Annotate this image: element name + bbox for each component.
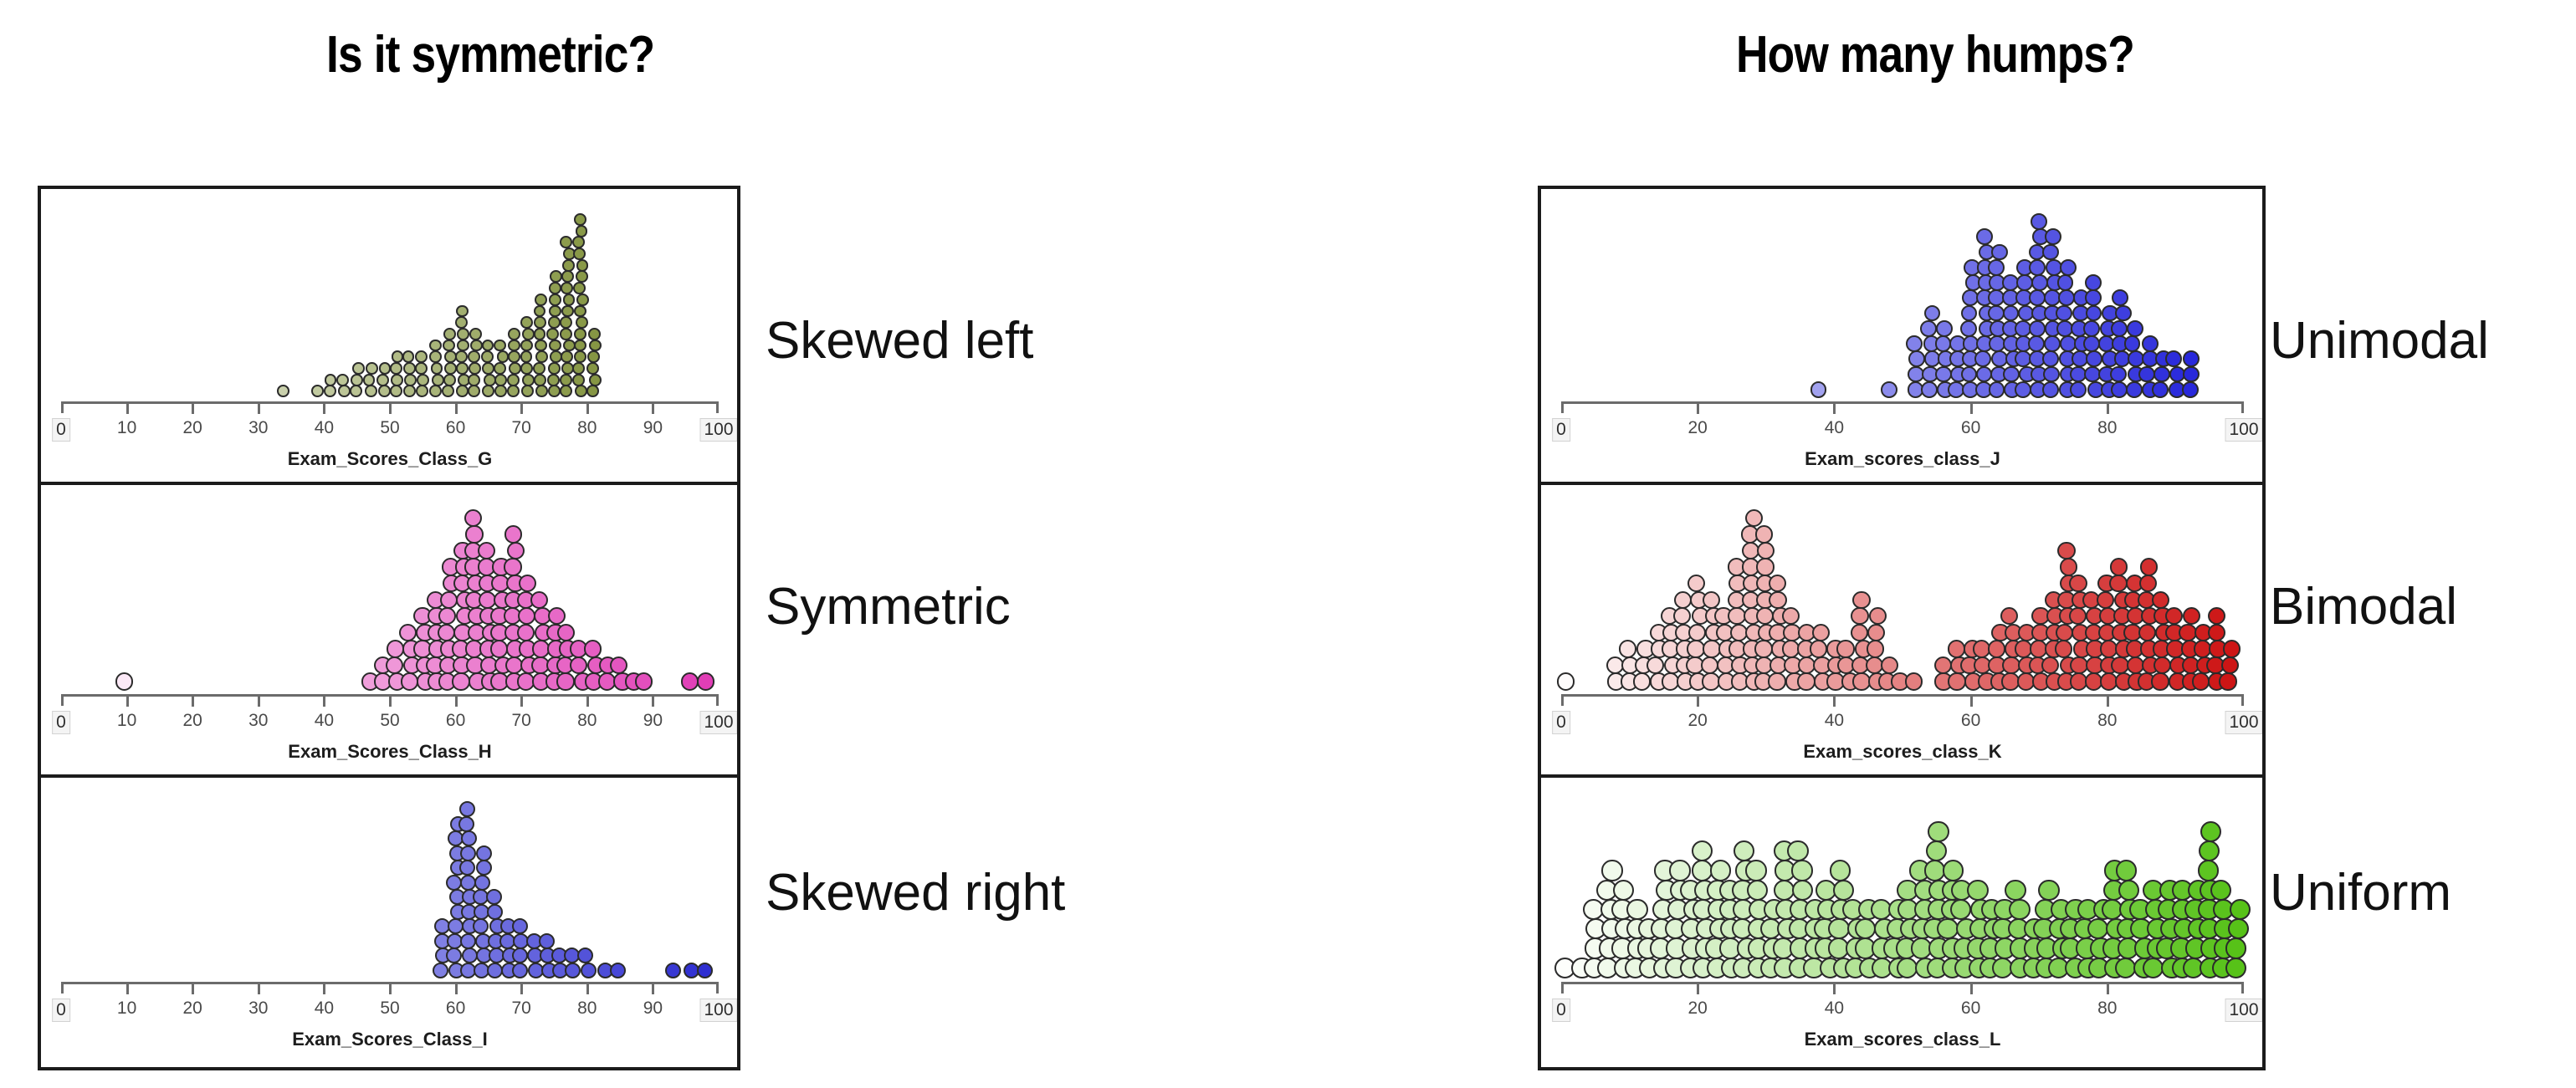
dot-marker [557,624,575,641]
dot-marker [1988,259,2005,276]
caption-skewed-left: Skewed left [766,311,1034,370]
dot-marker [2223,640,2241,657]
x-axis-tick-label: 100 [699,999,737,1022]
dotplot-panel-class-i: 0102030405060708090100Exam_Scores_Class_… [41,774,737,1062]
x-axis-title: Exam_Scores_Class_G [288,448,493,470]
x-axis-tick-label: 0 [52,999,70,1022]
dot-marker [2221,656,2239,674]
x-axis-title: Exam_scores_class_J [1805,448,2000,470]
dot-marker [508,340,520,352]
dot-marker [508,350,520,363]
x-axis-tick-label: 30 [248,999,268,1019]
dot-marker [561,305,574,318]
x-axis-tick-label: 40 [1825,999,1844,1019]
dot-marker [2210,880,2231,901]
x-axis-tick [652,403,654,414]
dot-marker [415,350,428,363]
dot-marker [1810,640,1827,657]
dot-marker [1745,860,1766,881]
dot-marker [697,672,714,690]
dot-marker [681,672,699,690]
x-axis-tick [652,696,654,707]
dot-marker [507,374,520,386]
x-axis-tick-label: 40 [315,711,334,731]
dot-marker [560,316,572,329]
dot-marker [1754,640,1772,657]
dot-marker [2000,607,2018,625]
dot-marker [2005,880,2025,901]
dot-marker [478,542,495,559]
dot-marker [1745,509,1763,527]
dot-marker [522,328,535,340]
x-axis-cap-start [61,694,64,706]
caption-symmetric: Symmetric [766,577,1011,636]
dot-marker [2056,305,2072,322]
dot-marker [1774,880,1795,901]
x-axis-tick-label: 10 [117,418,136,438]
dot-marker [697,963,713,978]
dot-marker [1769,591,1786,609]
dot-marker [549,294,561,306]
dot-marker [535,385,548,397]
x-axis-tick-label: 0 [1552,418,1570,442]
dot-marker [2153,656,2171,674]
dot-marker [2042,244,2059,261]
dot-marker [1851,607,1868,625]
dot-marker [534,328,546,340]
dot-marker [402,350,415,363]
dot-marker [2139,575,2157,592]
dot-marker [565,963,581,978]
dot-marker [1960,320,1977,337]
dot-marker [2165,607,2183,625]
x-axis-tick-label: 70 [512,418,531,438]
dot-marker [549,305,561,318]
x-axis-tick-label: 30 [248,711,268,731]
dot-marker [1881,656,1898,674]
x-axis-tick [520,403,523,414]
dot-marker [1633,672,1651,690]
dot-marker [512,918,528,934]
dot-marker [2111,320,2128,337]
dot-marker [1867,640,1884,657]
dot-marker [2028,335,2045,352]
x-axis-tick-label: 20 [183,711,202,731]
dot-marker [482,385,494,397]
dot-marker [352,362,365,375]
x-axis-tick [586,403,589,414]
dot-marker [403,385,416,397]
x-axis-tick-label: 30 [248,418,268,438]
dotplot-stack-right: 020406080100Exam_scores_class_J 02040608… [1538,186,2266,1070]
dot-marker [469,328,482,340]
x-axis-tick-label: 60 [446,711,465,731]
dot-marker [325,374,337,386]
dot-marker [1757,542,1775,559]
x-axis-tick-label: 0 [1552,999,1570,1022]
plot-area-class-i: 0102030405060708090100Exam_Scores_Class_… [41,778,737,1062]
dot-marker [2115,305,2132,322]
dot-marker [2085,289,2102,306]
dot-marker [1869,607,1887,625]
x-axis-tick [389,696,392,707]
dot-marker [442,385,454,397]
dot-marker [473,918,489,934]
dot-marker [378,385,391,397]
x-axis-cap-start [1561,401,1564,413]
x-axis-title: Exam_scores_class_L [1805,1029,2001,1050]
dot-marker [2003,366,2020,383]
dot-marker [1897,958,1918,978]
dot-marker [2111,381,2128,398]
dot-marker [2200,821,2221,842]
dot-marker [1920,320,1937,337]
plot-area-class-h: 0102030405060708090100Exam_Scores_Class_… [41,485,737,774]
x-axis-tick [455,983,458,994]
x-axis-tick-label: 80 [2097,999,2117,1019]
dot-marker [1703,591,1720,609]
dot-marker [1921,381,1938,398]
dot-marker [548,316,561,329]
x-axis-cap-start [61,401,64,413]
dot-marker [1836,640,1854,657]
dot-marker [574,350,586,363]
x-axis-title: Exam_scores_class_K [1803,741,2001,763]
dot-marker [573,282,586,294]
dot-marker [1926,840,1947,861]
dot-marker [431,362,443,375]
dot-marker [336,374,349,386]
dot-marker [1906,335,1923,352]
dot-marker [2038,880,2059,901]
dot-marker [456,385,469,397]
dot-marker [1974,350,1991,367]
dot-marker [390,385,402,397]
dot-marker [2083,320,2100,337]
x-axis-tick-label: 50 [380,999,399,1019]
dot-marker [2043,366,2060,383]
dot-marker [2219,672,2236,690]
dot-marker [572,374,585,386]
dot-marker [1976,228,1993,245]
x-axis-tick-label: 90 [643,711,663,731]
dot-marker [1791,860,1812,881]
dot-marker [2116,860,2137,881]
dot-marker [2112,289,2128,306]
x-axis-tick [192,403,194,414]
x-axis-tick [323,983,325,994]
dot-marker [470,340,483,352]
dot-marker [587,350,600,363]
dot-marker [351,374,363,386]
x-axis-tick [323,403,325,414]
dot-marker [2140,558,2158,575]
dot-marker [482,340,494,352]
x-axis-cap-start [1561,982,1564,994]
dot-marker [429,340,442,352]
dot-marker [518,607,535,625]
dot-marker [1692,840,1713,861]
dot-marker [443,328,456,340]
x-axis-tick [2107,983,2109,994]
dot-marker [520,350,533,363]
dot-marker [2083,335,2100,352]
dot-marker [417,374,429,386]
dotplot-panel-class-l: 020406080100Exam_scores_class_L [1541,774,2262,1062]
dot-marker [563,294,576,306]
x-axis-tick [520,983,523,994]
dot-marker [1613,880,1634,901]
dot-marker [1852,591,1870,609]
x-axis-tick-label: 100 [2225,711,2262,734]
dot-marker [1787,840,1808,861]
dot-marker [391,374,403,386]
x-axis-tick-label: 20 [1688,711,1708,731]
dot-marker [549,340,561,352]
dot-marker [404,374,417,386]
dot-marker [399,624,417,641]
dot-marker [2228,918,2249,939]
dot-marker [2003,305,2020,322]
dot-marker [443,340,455,352]
dot-marker [2097,591,2114,609]
dot-marker [576,259,589,272]
dot-marker [1601,860,1622,881]
x-axis-tick-label: 40 [315,999,334,1019]
dot-marker [517,624,535,641]
dot-marker [476,860,492,876]
dot-marker [1810,381,1827,398]
dot-marker [2208,607,2225,625]
dot-marker [2126,381,2143,398]
dot-marker [1619,640,1636,657]
dot-marker [1756,607,1774,625]
plot-area-class-g: 0102030405060708090100Exam_Scores_Class_… [41,189,737,482]
plot-area-class-l: 020406080100Exam_scores_class_L [1541,778,2262,1062]
heading-is-it-symmetric: Is it symmetric? [326,25,654,84]
dot-marker [577,948,593,963]
x-axis-tick-label: 0 [52,418,70,442]
dot-marker [520,362,533,375]
dot-marker [432,374,444,386]
dot-marker [535,340,547,352]
dot-marker [462,948,478,963]
dot-marker [548,362,561,375]
dot-marker [2165,350,2182,367]
dot-marker [2118,880,2139,901]
heading-how-many-humps: How many humps? [1736,25,2134,84]
dot-marker [1855,918,1876,939]
dot-marker [1755,525,1773,543]
x-axis-tick-label: 60 [446,999,465,1019]
dot-marker [576,270,588,283]
x-axis-cap-start [1561,694,1564,706]
dot-marker [504,525,522,543]
x-axis-title: Exam_Scores_Class_I [292,1029,488,1050]
dot-marker [2016,274,2033,291]
dot-marker [416,385,428,397]
dot-marker [474,875,490,891]
dot-marker [588,328,601,340]
dot-marker [535,350,548,363]
dot-marker [1881,381,1897,398]
dot-marker [456,362,469,375]
x-axis-tick-label: 0 [52,711,70,734]
x-axis-tick-label: 80 [2097,418,2117,438]
dot-marker [2085,274,2102,291]
dot-marker [1669,860,1690,881]
dot-marker [2153,366,2170,383]
dot-marker [115,672,133,690]
dot-marker [2029,289,2046,306]
x-axis-tick-label: 50 [380,418,399,438]
dot-marker [574,305,586,318]
dot-marker [2041,656,2059,674]
dot-marker [465,525,483,543]
dot-marker [476,845,492,861]
dot-marker [1908,350,1925,367]
dot-marker [460,933,476,949]
caption-unimodal: Unimodal [2270,311,2489,370]
x-axis-tick [126,983,129,994]
dot-marker [576,294,589,306]
dot-marker [534,305,546,318]
dot-marker [2060,558,2077,575]
dot-marker [507,542,525,559]
dot-marker [574,328,586,340]
dot-marker [2029,320,2046,337]
dot-marker [586,362,599,375]
dot-marker [2086,305,2102,322]
dot-marker [433,963,448,978]
x-axis-tick [1833,983,1836,994]
dot-marker [562,259,575,272]
dot-marker [546,328,559,340]
dot-marker [1937,918,1958,939]
x-axis-tick-label: 10 [117,999,136,1019]
dot-marker [561,270,574,283]
dot-marker [469,362,481,375]
dot-marker [2058,289,2075,306]
x-axis-tick-label: 20 [1688,418,1708,438]
dot-marker [311,385,324,397]
dot-marker [520,340,533,352]
dot-marker [1989,381,2005,398]
x-axis-tick-label: 60 [1961,999,1980,1019]
dot-marker [2045,228,2061,245]
dot-marker [2199,840,2220,861]
dot-marker [522,374,535,386]
x-axis-tick-label: 80 [2097,711,2117,731]
dot-marker [2057,274,2074,291]
dot-marker [415,362,428,375]
x-axis-tick [2107,403,2109,414]
dot-marker [570,656,587,674]
dot-marker [548,607,566,625]
dot-marker [512,948,528,963]
dotplot-panel-class-h: 0102030405060708090100Exam_Scores_Class_… [41,482,737,774]
dot-marker [581,963,597,978]
x-axis-tick-label: 40 [315,418,334,438]
dot-marker [455,350,468,363]
dot-marker [1792,880,1813,901]
dot-marker [2109,575,2127,592]
dot-marker [2031,213,2047,230]
dot-marker [2055,640,2072,657]
dot-marker [589,340,602,352]
dot-marker [610,963,626,978]
dot-marker [576,225,588,238]
dot-marker [468,385,480,397]
x-axis-tick [455,403,458,414]
dot-marker [1934,656,1952,674]
x-axis-line [1561,982,2244,984]
dot-marker [338,385,351,397]
dot-marker [572,362,585,375]
dot-marker [530,591,548,609]
dot-marker [586,385,599,397]
x-axis-tick [192,696,194,707]
x-axis-tick-label: 70 [512,999,531,1019]
dot-marker [464,509,482,527]
dot-marker [533,362,545,375]
dot-marker [1747,880,1768,901]
dot-marker [1833,880,1854,901]
dot-marker [508,328,520,340]
x-axis-tick-label: 0 [1552,711,1570,734]
dot-marker [1756,558,1774,575]
dot-marker [575,385,587,397]
x-axis-tick [2107,696,2109,707]
plot-area-class-k: 020406080100Exam_scores_class_K [1541,485,2262,774]
dot-marker [521,385,534,397]
dot-marker [1646,656,1664,674]
dot-marker [481,350,494,363]
x-axis-cap-end [716,401,719,413]
x-axis-cap-end [2241,401,2244,413]
dot-marker [589,374,602,386]
dot-marker [504,558,521,575]
caption-uniform: Uniform [2270,863,2451,922]
x-axis-tick-label: 60 [446,418,465,438]
x-axis-line [1561,401,2244,404]
caption-skewed-right: Skewed right [766,863,1065,922]
x-axis-tick [389,983,392,994]
dot-marker [1961,366,1978,383]
x-axis-tick [1833,403,1836,414]
dot-marker [1828,918,1849,939]
dot-marker [1967,880,1988,901]
dot-marker [548,385,561,397]
dot-marker [1687,575,1705,592]
dot-marker [1924,305,1941,322]
dot-marker [2152,381,2169,398]
dot-marker [1768,672,1785,690]
x-axis-cap-start [61,982,64,994]
dot-marker [547,374,560,386]
dot-marker [482,362,494,375]
dot-marker [560,374,572,386]
dot-marker [556,672,574,690]
dot-marker [576,316,588,329]
dot-marker [2208,624,2225,641]
dot-marker [458,816,474,832]
x-axis-tick [389,403,392,414]
dot-marker [452,672,469,690]
dot-marker [468,350,480,363]
dot-marker [2152,591,2169,609]
x-axis-tick-label: 50 [380,711,399,731]
